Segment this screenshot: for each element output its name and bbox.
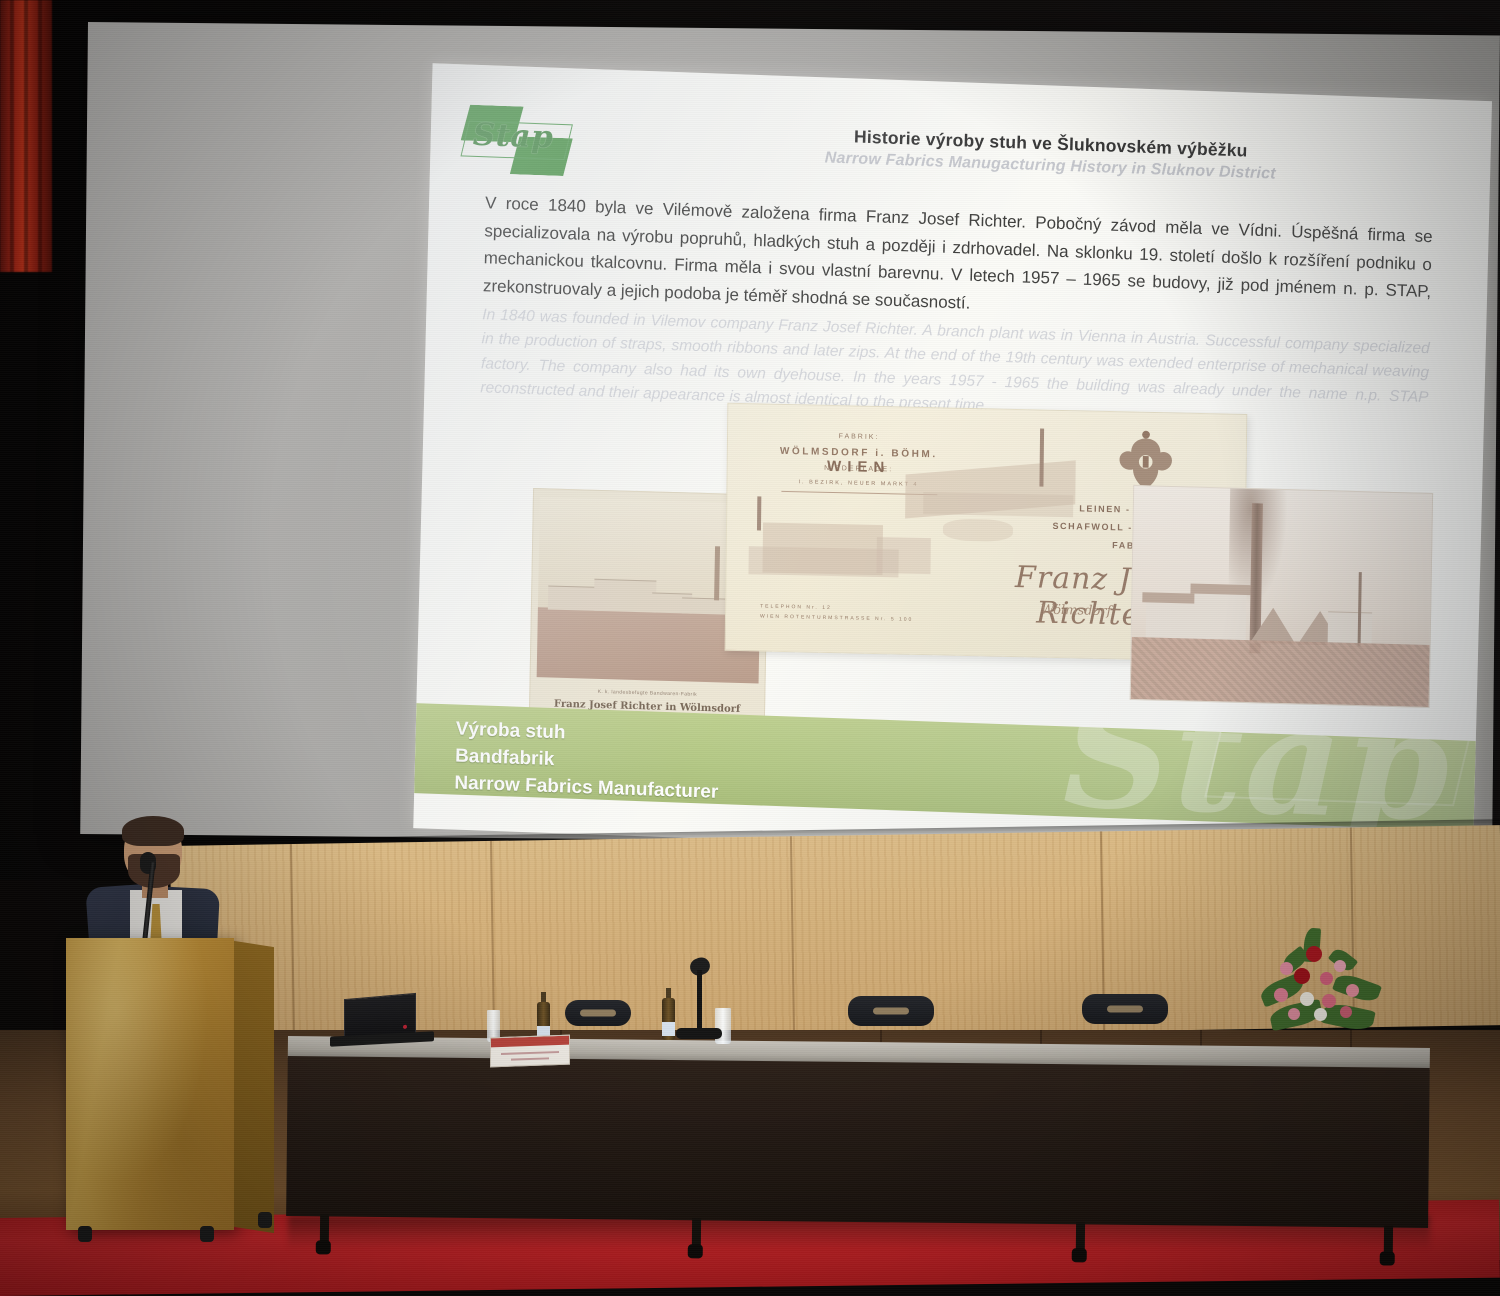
projection-screen: Stap Historie výroby stuh ve Šluknovském… bbox=[80, 22, 1500, 848]
presentation-slide: Stap Historie výroby stuh ve Šluknovském… bbox=[413, 63, 1492, 866]
podium-caster bbox=[200, 1226, 214, 1242]
photo-foreground bbox=[1131, 637, 1430, 707]
table-microphone-base bbox=[676, 1028, 722, 1039]
panel-table bbox=[286, 1036, 1430, 1244]
flower-arrangement bbox=[1256, 922, 1384, 1034]
red-curtain bbox=[0, 0, 52, 272]
historical-photo-right bbox=[1130, 485, 1433, 708]
photo-caption-small: K. k. landesbefugte Bandwaren-Fabrik bbox=[530, 687, 764, 700]
chair bbox=[565, 1000, 631, 1026]
logo-wordmark: Stap bbox=[472, 117, 573, 157]
banner-watermark: Stap bbox=[1062, 703, 1453, 831]
presentation-scene: Stap Historie výroby stuh ve Šluknovském… bbox=[0, 0, 1500, 1296]
table-microphone-stand bbox=[697, 970, 702, 1032]
podium-caster bbox=[258, 1212, 272, 1228]
podium-caster bbox=[78, 1226, 92, 1242]
presenter-hair bbox=[122, 816, 184, 846]
chair bbox=[1082, 994, 1168, 1024]
banner-text-lines: Výroba stuh Bandfabrik Narrow Fabrics Ma… bbox=[454, 717, 720, 807]
presenter bbox=[86, 818, 226, 958]
slide-footer-banner: Stap Výroba stuh Bandfabrik Narrow Fabri… bbox=[414, 703, 1476, 831]
name-card bbox=[490, 1035, 570, 1068]
stap-logo: Stap bbox=[458, 102, 580, 178]
chair bbox=[848, 996, 934, 1026]
speaker-podium bbox=[66, 938, 234, 1230]
